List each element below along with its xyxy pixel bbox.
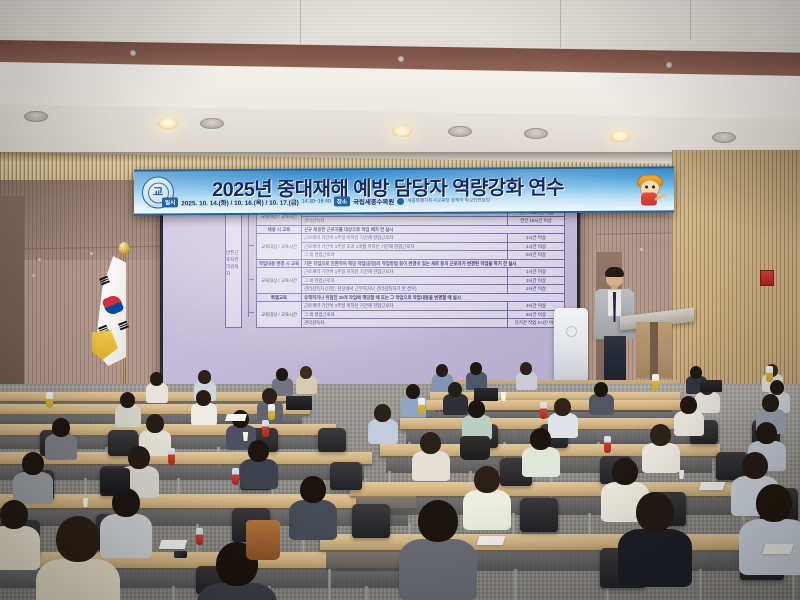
backpack xyxy=(100,468,130,494)
event-banner: 교 2025년 중대재해 예방 담당자 역량강화 연수 일시 2025. 10.… xyxy=(134,166,674,215)
water-bottle xyxy=(766,366,773,382)
table-row: 채용 시 교육신규 채용한 근로자를 대상으로 작업 배치 전 실시 xyxy=(257,225,565,234)
person-body xyxy=(589,394,614,415)
slide-table-wrapper: 안전근로자관리감독자 정기교육해당 사업장의 근로자를 대상으로 정기적으로 실… xyxy=(225,199,565,328)
ceiling-vent-icon xyxy=(200,118,224,129)
person-head xyxy=(520,362,532,375)
person-head xyxy=(374,404,391,422)
row-target: 근로계약 기간이 1주일 초과 1개월 이하인 기간제 현업근로자 xyxy=(302,242,508,251)
person-head xyxy=(198,370,211,384)
person-body xyxy=(368,419,398,444)
laptop xyxy=(700,380,722,392)
ceiling-vent-icon xyxy=(524,128,548,139)
handout-paper xyxy=(477,536,506,545)
vertical-label-text: 안전근로자관리감독자 xyxy=(226,249,241,277)
person-body xyxy=(191,403,217,425)
table-row: 특별교육유해하거나 위험한 39개 작업에 해당할 때 또는 그 작업으로 작업… xyxy=(257,293,565,302)
person-head xyxy=(612,458,638,485)
desk-leg xyxy=(328,569,331,600)
person-body xyxy=(412,451,450,481)
person-head xyxy=(406,384,420,399)
person-head xyxy=(742,452,768,479)
person-head xyxy=(756,484,792,522)
row-target: 근로계약 기간이 1주일 이하인 기간제 현업근로자 xyxy=(302,302,508,311)
wall-fixture-dot xyxy=(90,252,93,255)
person-head xyxy=(474,466,500,493)
person-head xyxy=(262,388,277,404)
drink-bottle xyxy=(604,436,611,453)
ceiling-vent-icon xyxy=(712,132,736,143)
person-head xyxy=(690,366,702,379)
row-hours: 2시간 이상 xyxy=(508,285,565,294)
table-row: 교육대상 / 교육시간근로계약 기간이 1주일 이하인 기간제 현업근로자1시간… xyxy=(257,234,565,243)
mascot-eye xyxy=(645,186,648,189)
desk-leg xyxy=(514,569,517,600)
desk-surface xyxy=(350,482,750,496)
person-head xyxy=(196,390,211,406)
person-head xyxy=(680,396,697,414)
ceiling-downlight xyxy=(392,126,412,137)
person-body xyxy=(115,405,141,427)
smartphone xyxy=(174,551,187,558)
row-category: 채용 시 교육 xyxy=(257,225,302,234)
presenter-trousers xyxy=(604,336,626,380)
wall-fixture-dot xyxy=(640,248,643,251)
row-target: 그 외 현업근로자 xyxy=(302,276,508,285)
laptop xyxy=(474,388,498,401)
row-hours: 8시간 이상 xyxy=(508,251,565,260)
person-head xyxy=(762,394,779,412)
person-head xyxy=(468,400,485,418)
person-head xyxy=(448,382,462,397)
ceiling-seam xyxy=(300,0,301,44)
person-head xyxy=(56,516,100,562)
row-hours: 4시간 이상 xyxy=(508,242,565,251)
person-head xyxy=(530,428,551,450)
air-purifier xyxy=(554,308,588,380)
person-body xyxy=(522,447,560,477)
table-row: 그 외 현업근로자8시간 이상 xyxy=(257,251,565,260)
handbag xyxy=(246,520,280,560)
water-bottle xyxy=(46,392,53,408)
person-body xyxy=(36,559,120,600)
slide-vertical-label: 안전근로자관리감독자 xyxy=(225,199,242,328)
chair xyxy=(318,428,346,452)
person-body xyxy=(0,526,40,570)
organizer-logo-icon xyxy=(397,197,404,204)
drink-bottle xyxy=(262,420,269,437)
mascot-eye xyxy=(652,185,655,188)
drink-bottle xyxy=(232,468,239,485)
handbag xyxy=(460,436,490,460)
handout-paper xyxy=(763,544,794,554)
table-row: 관리감독자단기간 작업 2시간 이상 xyxy=(257,319,565,328)
person-body xyxy=(463,490,511,530)
sprinkler-head-icon xyxy=(130,50,136,56)
person-body xyxy=(146,383,168,403)
water-bottle xyxy=(268,404,275,420)
row-description: 신규 채용한 근로자를 대상으로 작업 배치 전 실시 xyxy=(302,225,565,234)
chair xyxy=(520,498,558,532)
person-head xyxy=(636,492,674,532)
desk-modesty-panel xyxy=(326,552,792,571)
person-body xyxy=(618,529,692,587)
person-body xyxy=(100,514,152,558)
purifier-control-icon xyxy=(566,326,577,337)
person-head xyxy=(0,500,28,529)
person-head xyxy=(418,500,458,542)
person-head xyxy=(554,398,571,416)
laptop xyxy=(286,396,312,410)
ceiling-downlight xyxy=(610,131,630,142)
person-head xyxy=(300,366,312,379)
table-row: 관리감독자연간 16시간 이상 xyxy=(257,217,565,226)
desk-leg xyxy=(365,586,368,600)
ceiling-downlight xyxy=(158,118,178,129)
table-row: 교육대상 / 교육시간근로계약 기간이 1주일 이하인 기간제 현업근로자1시간… xyxy=(257,268,565,277)
row-hours: 연간 16시간 이상 xyxy=(508,217,565,226)
sprinkler-head-icon xyxy=(666,62,672,68)
water-bottle xyxy=(652,374,659,390)
table-row: 교육대상 / 교육시간근로계약 기간이 1주일 이하인 기간제 현업근로자2시간… xyxy=(257,302,565,311)
row-category: 작업내용 변경 시 교육 xyxy=(257,259,302,268)
ceiling-seam xyxy=(690,0,691,40)
person-head xyxy=(276,368,288,381)
person-body xyxy=(289,500,337,540)
desk-surface xyxy=(320,534,800,550)
slide-brace xyxy=(244,199,254,328)
handout-paper xyxy=(159,540,188,549)
banner-organizer: 세종특별자치시교육청 정책국 학교안전담당 xyxy=(407,197,490,204)
person-head xyxy=(22,452,44,475)
safety-education-table: 정기교육해당 사업장의 근로자를 대상으로 정기적으로 실시교육대상 / 교육시… xyxy=(256,199,565,328)
drink-bottle xyxy=(196,528,203,545)
person-head xyxy=(52,418,70,437)
banner-dates: 2025. 10. 14.(화) / 10. 16.(목) / 10. 17.(… xyxy=(181,197,298,207)
table-row: 근로계약 기간이 1주일 초과 1개월 이하인 기간제 현업근로자4시간 이상 xyxy=(257,242,565,251)
row-hours: 1시간 이상 xyxy=(508,234,565,243)
person-body xyxy=(695,392,720,413)
person-head xyxy=(594,382,608,397)
wall-fixture-dot xyxy=(38,258,41,261)
row-sub-label: 교육대상 / 교육시간 xyxy=(257,268,302,294)
person-head xyxy=(770,380,784,395)
right-wall-shadow xyxy=(672,150,800,260)
person-head xyxy=(128,446,150,469)
person-head xyxy=(420,432,441,454)
row-hours: 1시간 이상 xyxy=(508,268,565,277)
person-head xyxy=(470,362,482,375)
place-tag: 장소 xyxy=(334,196,350,206)
fire-alarm-icon xyxy=(760,270,774,286)
person-body xyxy=(45,434,77,460)
row-description: 기존 작업으로 전환하여 해당 작업(공정)의 작업방법 등이 변경이 있는 새… xyxy=(302,259,565,268)
table-row: 관리감독자 (다만, 현장에서 근무하거나 관리감독자가 된 경우)2시간 이상 xyxy=(257,285,565,294)
person-head xyxy=(300,476,326,503)
row-target: 관리감독자 (다만, 현장에서 근무하거나 관리감독자가 된 경우) xyxy=(302,285,508,294)
row-sub-label: 교육대상 / 교육시간 xyxy=(257,302,302,328)
row-sub-label: 교육대상 / 교육시간 xyxy=(257,234,302,260)
person-head xyxy=(756,422,777,444)
table-row: 그 외 현업근로자8시간 이상 xyxy=(257,310,565,319)
flag-finial-icon xyxy=(119,242,129,254)
row-target: 관리감독자 xyxy=(302,217,508,226)
table-row: 작업내용 변경 시 교육기존 작업으로 전환하여 해당 작업(공정)의 작업방법… xyxy=(257,259,565,268)
row-category: 특별교육 xyxy=(257,293,302,302)
row-target: 근로계약 기간이 1주일 이하인 기간제 현업근로자 xyxy=(302,268,508,277)
ceiling-vent-icon xyxy=(24,111,48,122)
row-description: 유해하거나 위험한 39개 작업에 해당할 때 또는 그 작업으로 작업내용을 … xyxy=(302,293,565,302)
person-head xyxy=(650,424,671,446)
person-head xyxy=(120,392,135,408)
sprinkler-head-icon xyxy=(398,56,404,62)
person-head xyxy=(146,414,164,433)
lectern-post xyxy=(650,322,658,380)
person-body xyxy=(548,413,578,438)
person-body xyxy=(642,443,680,473)
banner-time: 14:30~16:40 xyxy=(302,198,331,204)
banner-place: 국립세종수목원 xyxy=(353,197,394,206)
drink-bottle xyxy=(540,402,547,419)
row-hours: 2시간 이상 xyxy=(508,276,565,285)
ceiling-seam xyxy=(560,0,561,48)
presenter-hair xyxy=(605,267,624,277)
handout-paper xyxy=(699,482,725,490)
left-door-recess xyxy=(0,196,24,386)
handout-paper xyxy=(225,414,247,421)
person-body xyxy=(13,472,53,504)
drink-bottle xyxy=(168,448,175,465)
row-target: 관리감독자 xyxy=(302,319,508,328)
ceiling-vent-icon xyxy=(448,126,472,137)
desk-leg xyxy=(172,586,175,600)
person-body xyxy=(674,411,704,436)
chair xyxy=(352,504,390,538)
wall-fixture-dot xyxy=(32,274,35,277)
table-row: 그 외 현업근로자2시간 이상 xyxy=(257,276,565,285)
person-body xyxy=(443,394,468,415)
person-head xyxy=(150,372,163,386)
chair xyxy=(330,462,362,490)
person-body xyxy=(240,459,278,489)
date-tag: 일시 xyxy=(162,197,178,207)
person-head xyxy=(248,440,269,462)
desk-leg xyxy=(699,569,702,600)
row-target: 그 외 현업근로자 xyxy=(302,251,508,260)
safety-mascot-icon xyxy=(632,171,668,207)
seminar-photograph: 학교기관 안전보건교육(법정) 안전근로자관리감독자 정기교육해당 사업장의 근… xyxy=(0,0,800,600)
person-body xyxy=(399,539,477,600)
water-bottle xyxy=(418,398,425,414)
row-target: 그 외 현업근로자 xyxy=(302,310,508,319)
person-head xyxy=(436,364,448,377)
row-target: 근로계약 기간이 1주일 이하인 기간제 현업근로자 xyxy=(302,234,508,243)
